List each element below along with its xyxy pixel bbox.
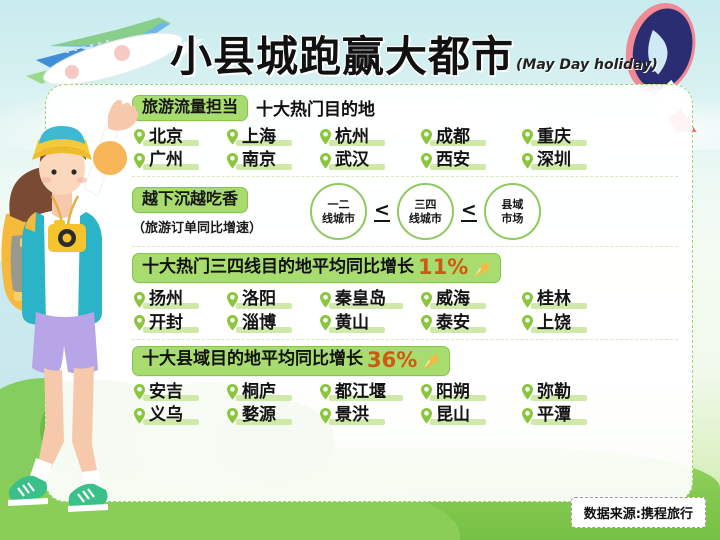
section-1-header: 旅游流量担当 十大热门目的地: [132, 95, 678, 121]
section-tier-comparison: 越下沉越吃香 （旅游订单同比增速） 一二 线城市 < 三四 线城市 < 县域 市…: [132, 183, 678, 240]
city-label: 婺源: [242, 406, 276, 425]
less-than-operator: <: [374, 202, 390, 222]
city-label: 阳朔: [436, 383, 470, 402]
city-label: 西安: [436, 151, 470, 170]
city-item[interactable]: 北京: [132, 128, 225, 147]
city-label: 上海: [242, 128, 276, 147]
section-1-heading: 十大热门目的地: [256, 95, 375, 120]
city-row: 安吉 桐庐 都江堰 阳朔 弥勒: [132, 383, 678, 402]
section-4-badge: 十大县域目的地平均同比增长 36%: [132, 346, 450, 376]
title-subtitle: (May Day holiday): [516, 57, 658, 73]
city-label: 泰安: [436, 314, 470, 333]
tier-circle-2: 三四 线城市: [397, 183, 454, 240]
section-3-heading: 十大热门三四线目的地平均同比增长: [142, 259, 414, 277]
section-2-subtitle: （旅游订单同比增速）: [132, 217, 300, 236]
city-row: 义乌 婺源 景洪 昆山 平潭: [132, 406, 678, 425]
city-item[interactable]: 安吉: [132, 383, 225, 402]
city-label: 都江堰: [335, 383, 386, 402]
city-item[interactable]: 婺源: [225, 406, 318, 425]
infographic-card: 旅游流量担当 十大热门目的地 北京 上海 杭州 成都: [45, 84, 693, 502]
city-label: 杭州: [335, 128, 369, 147]
tier-comparison-group: 一二 线城市 < 三四 线城市 < 县域 市场: [310, 183, 541, 240]
city-item[interactable]: 威海: [419, 290, 520, 309]
section-divider: [132, 176, 678, 177]
city-label: 弥勒: [537, 383, 571, 402]
tier-line-1: 一二: [328, 198, 350, 211]
city-row: 北京 上海 杭州 成都 重庆: [132, 128, 678, 147]
city-item[interactable]: 开封: [132, 314, 225, 333]
section-1-city-grid: 北京 上海 杭州 成都 重庆 广州: [132, 128, 678, 170]
tier-line-2: 线城市: [322, 212, 355, 225]
tier-line-1: 三四: [414, 198, 436, 211]
city-item[interactable]: 淄博: [225, 314, 318, 333]
city-item[interactable]: 昆山: [419, 406, 520, 425]
city-item[interactable]: 上饶: [520, 314, 613, 333]
section-divider: [132, 339, 678, 340]
city-item[interactable]: 弥勒: [520, 383, 613, 402]
city-item[interactable]: 深圳: [520, 151, 613, 170]
section-1-badge: 旅游流量担当: [132, 95, 248, 121]
city-label: 北京: [149, 128, 183, 147]
city-item[interactable]: 秦皇岛: [318, 290, 419, 309]
section-tier34-growth: 十大热门三四线目的地平均同比增长 11% 扬州 洛阳 秦皇岛 威海: [132, 253, 678, 332]
city-label: 昆山: [436, 406, 470, 425]
rising-arrow-icon: [420, 350, 440, 370]
section-3-city-grid: 扬州 洛阳 秦皇岛 威海 桂林 开封: [132, 290, 678, 332]
tier-line-2: 市场: [501, 212, 523, 225]
city-row: 扬州 洛阳 秦皇岛 威海 桂林: [132, 290, 678, 309]
less-than-operator: <: [461, 202, 477, 222]
title-text: 小县城跑赢大都市: [170, 36, 514, 78]
city-label: 威海: [436, 290, 470, 309]
city-label: 景洪: [335, 406, 369, 425]
city-label: 扬州: [149, 290, 183, 309]
section-divider: [132, 246, 678, 247]
city-item[interactable]: 南京: [225, 151, 318, 170]
city-item[interactable]: 阳朔: [419, 383, 520, 402]
city-label: 秦皇岛: [335, 290, 386, 309]
city-label: 南京: [242, 151, 276, 170]
city-item[interactable]: 广州: [132, 151, 225, 170]
city-label: 安吉: [149, 383, 183, 402]
city-item[interactable]: 桂林: [520, 290, 613, 309]
section-2-left: 越下沉越吃香 （旅游订单同比增速）: [132, 187, 300, 236]
city-item[interactable]: 桐庐: [225, 383, 318, 402]
section-3-badge: 十大热门三四线目的地平均同比增长 11%: [132, 253, 501, 283]
city-label: 黄山: [335, 314, 369, 333]
city-item[interactable]: 景洪: [318, 406, 419, 425]
city-label: 平潭: [537, 406, 571, 425]
traveler-illustration: [0, 96, 142, 526]
city-label: 开封: [149, 314, 183, 333]
city-item[interactable]: 平潭: [520, 406, 613, 425]
city-item[interactable]: 重庆: [520, 128, 613, 147]
city-item[interactable]: 泰安: [419, 314, 520, 333]
city-label: 义乌: [149, 406, 183, 425]
section-popular-destinations: 旅游流量担当 十大热门目的地 北京 上海 杭州 成都: [132, 95, 678, 170]
city-item[interactable]: 扬州: [132, 290, 225, 309]
city-item[interactable]: 洛阳: [225, 290, 318, 309]
city-item[interactable]: 西安: [419, 151, 520, 170]
city-label: 武汉: [335, 151, 369, 170]
city-item[interactable]: 都江堰: [318, 383, 419, 402]
city-item[interactable]: 杭州: [318, 128, 419, 147]
tier-line-1: 县域: [501, 198, 523, 211]
data-source-label: 数据来源:携程旅行: [571, 497, 706, 528]
section-4-percent: 36%: [367, 350, 417, 371]
city-label: 上饶: [537, 314, 571, 333]
section-3-percent: 11%: [418, 257, 468, 278]
tier-circle-3: 县域 市场: [484, 183, 541, 240]
city-label: 广州: [149, 151, 183, 170]
section-2-badge: 越下沉越吃香: [132, 187, 248, 213]
section-4-city-grid: 安吉 桐庐 都江堰 阳朔 弥勒 义乌: [132, 383, 678, 425]
city-item[interactable]: 上海: [225, 128, 318, 147]
city-label: 桂林: [537, 290, 571, 309]
city-label: 淄博: [242, 314, 276, 333]
tier-circle-1: 一二 线城市: [310, 183, 367, 240]
page-title: 小县城跑赢大都市 (May Day holiday): [170, 16, 690, 78]
rising-arrow-icon: [471, 258, 491, 278]
section-4-heading: 十大县域目的地平均同比增长: [142, 351, 363, 369]
city-item[interactable]: 义乌: [132, 406, 225, 425]
section-county-growth: 十大县域目的地平均同比增长 36% 安吉 桐庐 都江堰 阳朔: [132, 346, 678, 425]
tier-line-2: 线城市: [409, 212, 442, 225]
city-item[interactable]: 黄山: [318, 314, 419, 333]
city-item[interactable]: 武汉: [318, 151, 419, 170]
city-row: 广州 南京 武汉 西安 深圳: [132, 151, 678, 170]
city-label: 重庆: [537, 128, 571, 147]
city-item[interactable]: 成都: [419, 128, 520, 147]
city-label: 成都: [436, 128, 470, 147]
city-row: 开封 淄博 黄山 泰安 上饶: [132, 314, 678, 333]
city-label: 深圳: [537, 151, 571, 170]
city-label: 洛阳: [242, 290, 276, 309]
city-label: 桐庐: [242, 383, 276, 402]
